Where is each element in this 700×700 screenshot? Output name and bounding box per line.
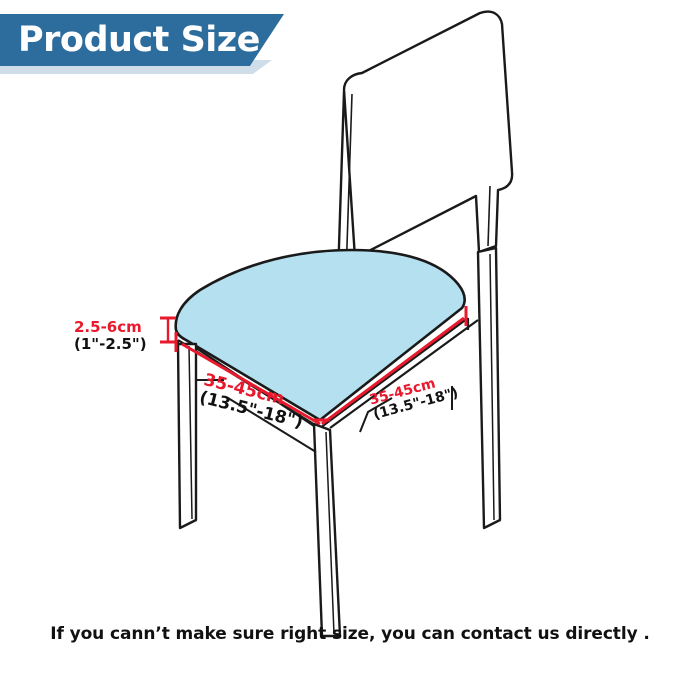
- chair-leg-center: [314, 424, 340, 636]
- leg-front-left-body: [178, 344, 196, 528]
- height-value-cm: 2.5-6cm: [74, 320, 147, 336]
- dimension-label-height: 2.5-6cm (1"-2.5"): [74, 320, 147, 353]
- chair-leg-front-left: [178, 344, 196, 528]
- chair-backrest: [338, 12, 512, 277]
- height-value-inch: (1"-2.5"): [74, 337, 147, 353]
- backrest-outer: [344, 12, 512, 258]
- caption-text: If you cann’t make sure right size, you …: [0, 624, 700, 644]
- chair-leg-rear-right: [478, 248, 500, 528]
- leg-rear-right-body: [478, 248, 500, 528]
- product-size-infographic: Product Size: [0, 0, 700, 700]
